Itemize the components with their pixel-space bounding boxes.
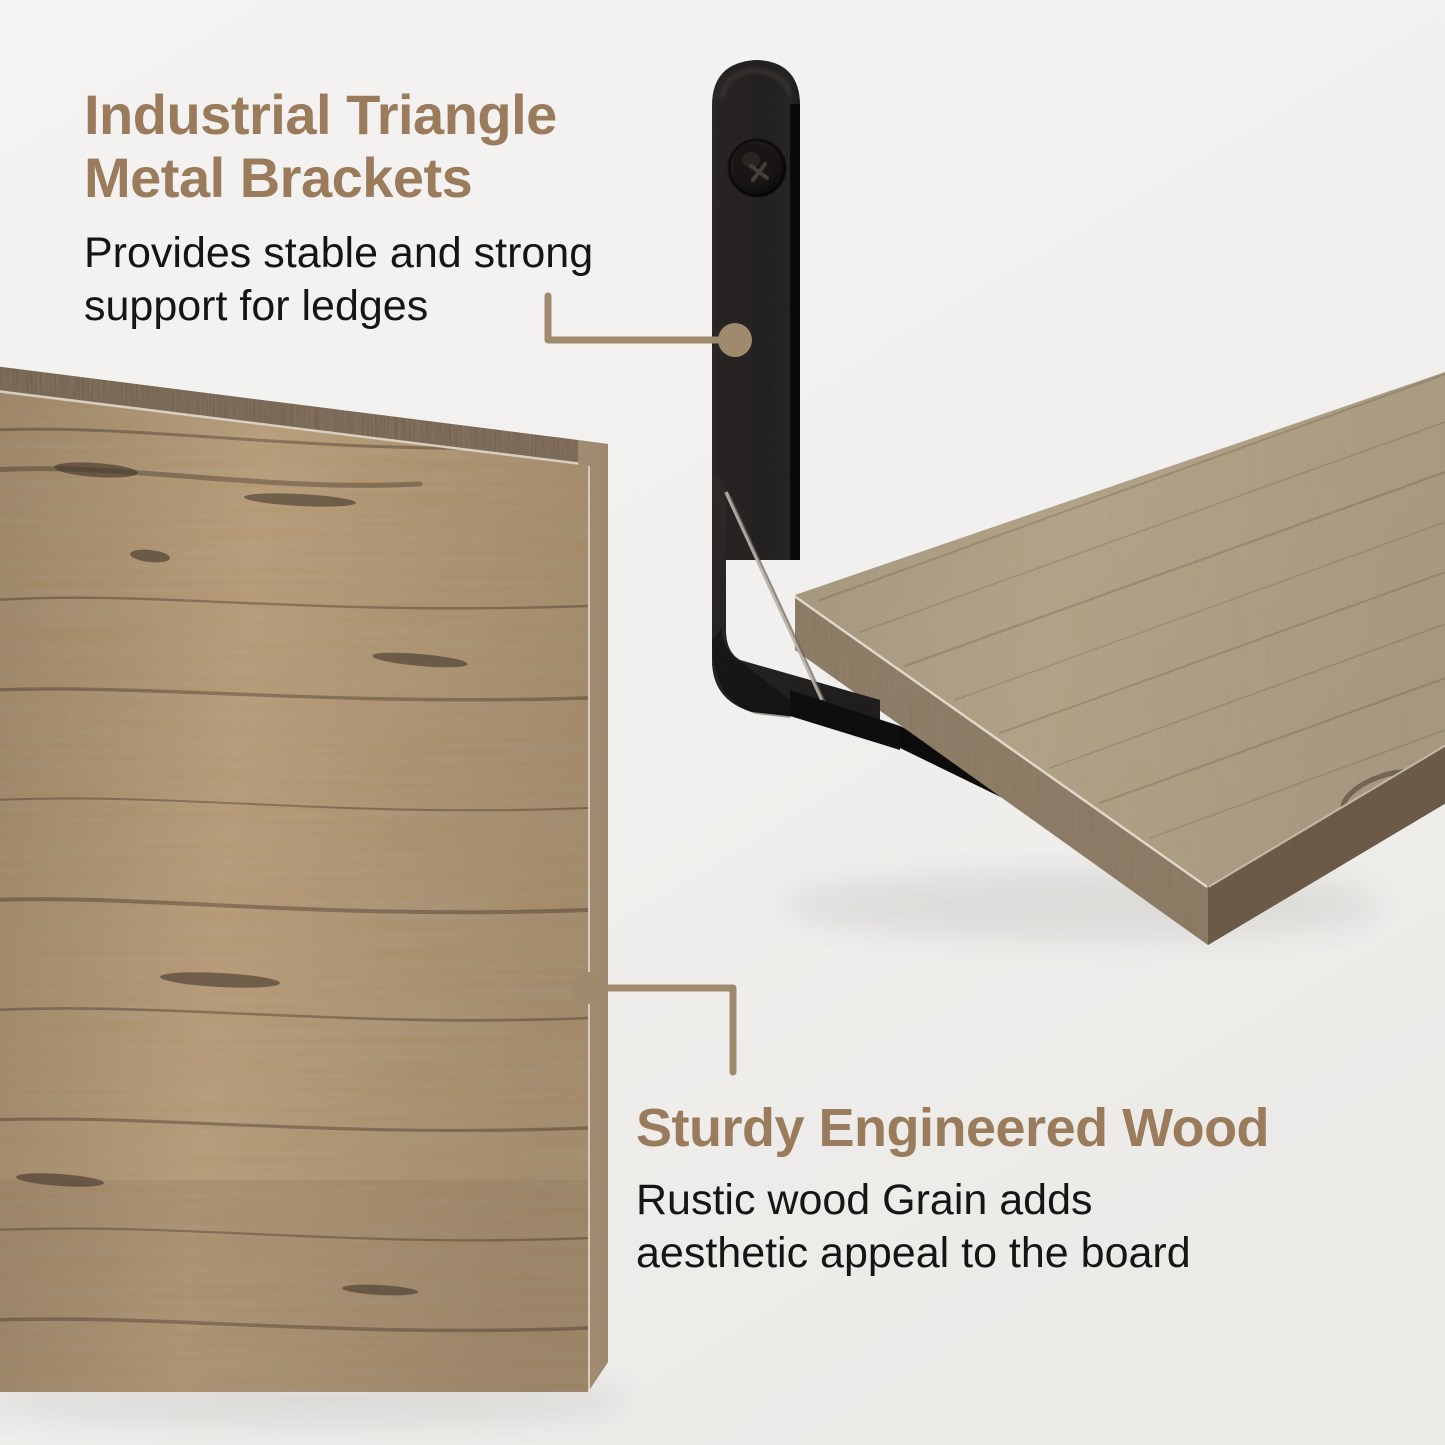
brackets-subtext: Provides stable and strong support for l… — [84, 227, 724, 332]
bracket-screw — [729, 140, 785, 196]
product-infographic: Industrial Triangle Metal Brackets Provi… — [0, 0, 1445, 1445]
left-wood-board — [0, 356, 620, 1410]
callout-metal-brackets: Industrial Triangle Metal Brackets Provi… — [84, 84, 724, 332]
brackets-headline: Industrial Triangle Metal Brackets — [84, 84, 724, 209]
wood-headline: Sturdy Engineered Wood — [636, 1098, 1426, 1158]
wood-subtext: Rustic wood Grain adds aesthetic appeal … — [636, 1174, 1426, 1279]
callout-engineered-wood: Sturdy Engineered Wood Rustic wood Grain… — [636, 1098, 1426, 1279]
